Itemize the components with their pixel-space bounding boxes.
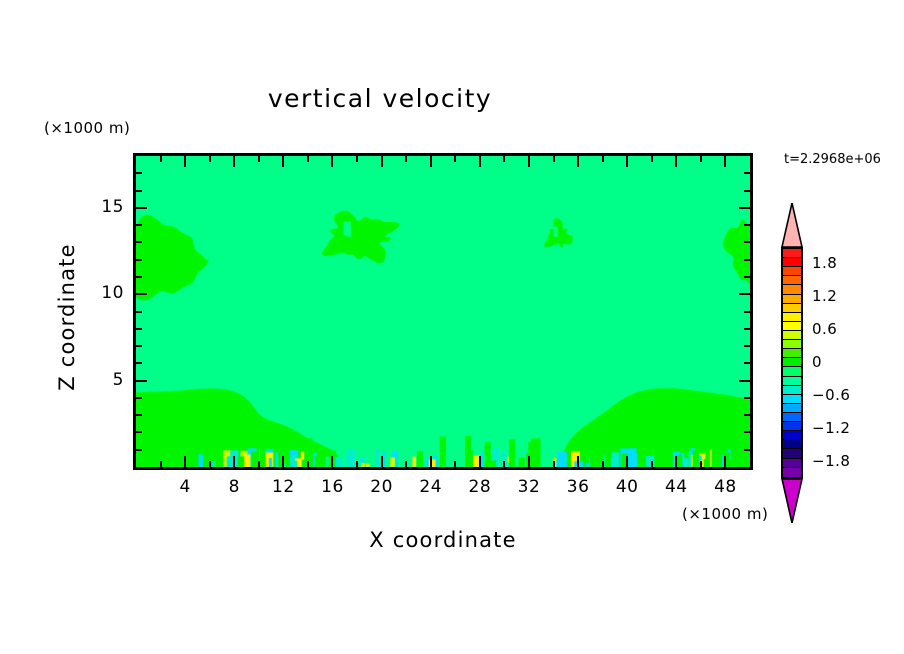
y-minor-tick-right [744,431,750,433]
y-tick-label: 5 [84,370,124,390]
x-tick-label: 40 [607,477,647,497]
y-minor-tick-right [744,397,750,399]
colorbar-band [783,431,801,440]
colorbar-band [783,349,801,358]
x-major-tick [626,456,628,467]
colorbar-band [783,304,801,313]
colorbar-tick-label: −1.2 [812,419,850,437]
colorbar-tick-label: 1.8 [812,254,837,272]
x-tick-label: 8 [214,477,254,497]
y-minor-tick [136,172,142,174]
x-major-tick-top [626,156,628,167]
y-minor-tick-right [744,259,750,261]
y-tick-label: 15 [84,197,124,217]
x-minor-tick [602,461,604,467]
x-major-tick-top [479,156,481,167]
x-major-tick [675,456,677,467]
x-tick-label: 28 [460,477,500,497]
x-major-tick [724,456,726,467]
x-minor-tick-top [405,156,407,162]
colorbar-tick-label: 0.6 [812,320,837,338]
x-minor-tick [307,461,309,467]
x-major-tick [331,456,333,467]
x-major-tick [479,456,481,467]
y-minor-tick [136,276,142,278]
colorbar-band [783,413,801,422]
x-axis-unit-label: (×1000 m) [682,505,768,523]
y-minor-tick [136,414,142,416]
y-major-tick [136,293,147,295]
x-minor-tick [700,461,702,467]
y-minor-tick [136,328,142,330]
colorbar-band [783,313,801,322]
x-minor-tick [454,461,456,467]
colorbar-tick-label: 1.2 [812,287,837,305]
x-major-tick [184,456,186,467]
y-major-tick [136,207,147,209]
y-minor-tick-right [744,414,750,416]
x-major-tick-top [577,156,579,167]
x-minor-tick [503,461,505,467]
x-major-tick [233,456,235,467]
y-major-tick-right [739,380,750,382]
x-minor-tick [258,461,260,467]
colorbar-band [783,377,801,386]
y-axis-title: Z coordinate [55,207,79,427]
x-minor-tick-top [258,156,260,162]
x-tick-label: 12 [263,477,303,497]
colorbar-band [783,386,801,395]
x-tick-label: 20 [362,477,402,497]
x-major-tick-top [430,156,432,167]
x-minor-tick [651,461,653,467]
colorbar-tick-label: −0.6 [812,386,850,404]
x-minor-tick [356,461,358,467]
x-minor-tick-top [651,156,653,162]
y-minor-tick [136,431,142,433]
x-minor-tick-top [209,156,211,162]
x-minor-tick-top [160,156,162,162]
x-major-tick-top [675,156,677,167]
x-major-tick-top [381,156,383,167]
y-minor-tick [136,190,142,192]
colorbar-band [783,422,801,431]
x-major-tick [381,456,383,467]
x-major-tick [528,456,530,467]
colorbar-band [783,276,801,285]
y-minor-tick-right [744,311,750,313]
colorbar-band [783,267,801,276]
x-tick-label: 24 [411,477,451,497]
y-minor-tick [136,362,142,364]
x-minor-tick-top [356,156,358,162]
y-minor-tick-right [744,276,750,278]
y-minor-tick-right [744,172,750,174]
x-axis-title: X coordinate [133,528,753,552]
colorbar-band [783,249,801,258]
colorbar-band [783,395,801,404]
x-major-tick-top [331,156,333,167]
x-tick-label: 4 [165,477,205,497]
y-minor-tick-right [744,241,750,243]
colorbar-band [783,295,801,304]
colorbar-band [783,331,801,340]
y-minor-tick [136,259,142,261]
x-minor-tick-top [503,156,505,162]
y-minor-tick [136,449,142,451]
x-major-tick [430,456,432,467]
x-major-tick [282,456,284,467]
y-minor-tick [136,224,142,226]
x-tick-label: 44 [656,477,696,497]
x-major-tick-top [233,156,235,167]
y-major-tick [136,380,147,382]
x-minor-tick-top [307,156,309,162]
x-major-tick-top [724,156,726,167]
x-tick-label: 32 [509,477,549,497]
colorbar-band [783,449,801,458]
colorbar-band [783,468,801,477]
x-major-tick [577,456,579,467]
page-title: vertical velocity [0,84,760,113]
x-major-tick-top [282,156,284,167]
y-minor-tick-right [744,449,750,451]
x-minor-tick-top [602,156,604,162]
colorbar-over-arrow-icon [781,203,803,248]
y-tick-label: 10 [84,283,124,303]
colorbar-under-arrow-icon [781,478,803,523]
x-tick-label: 48 [705,477,745,497]
colorbar-band [783,285,801,294]
colorbar-band [783,322,801,331]
x-major-tick-top [528,156,530,167]
contour-field-canvas [136,156,750,467]
y-axis-unit-label: (×1000 m) [44,119,130,137]
x-minor-tick-top [700,156,702,162]
x-tick-label: 36 [558,477,598,497]
x-minor-tick [160,461,162,467]
colorbar-tick-label: 0 [812,353,822,371]
colorbar-band [783,358,801,367]
colorbar-band [783,440,801,449]
y-major-tick-right [739,207,750,209]
y-minor-tick [136,241,142,243]
colorbar-tick-label: −1.8 [812,452,850,470]
y-minor-tick-right [744,345,750,347]
x-minor-tick [553,461,555,467]
y-minor-tick-right [744,224,750,226]
colorbar-bands [781,247,803,479]
y-minor-tick [136,345,142,347]
colorbar-band [783,459,801,468]
y-minor-tick-right [744,362,750,364]
y-minor-tick-right [744,190,750,192]
colorbar-band [783,404,801,413]
y-major-tick-right [739,293,750,295]
x-minor-tick-top [454,156,456,162]
colorbar-band [783,258,801,267]
x-major-tick-top [184,156,186,167]
colorbar-band [783,367,801,376]
x-tick-label: 16 [312,477,352,497]
y-minor-tick [136,397,142,399]
colorbar[interactable]: 1.81.20.60−0.6−1.2−1.8 [778,200,812,520]
colorbar-band [783,340,801,349]
x-minor-tick [405,461,407,467]
x-minor-tick [209,461,211,467]
y-minor-tick [136,311,142,313]
timestamp-label: t=2.2968e+06 [784,152,881,167]
y-minor-tick-right [744,328,750,330]
contour-plot-area[interactable] [133,153,753,470]
x-minor-tick-top [553,156,555,162]
